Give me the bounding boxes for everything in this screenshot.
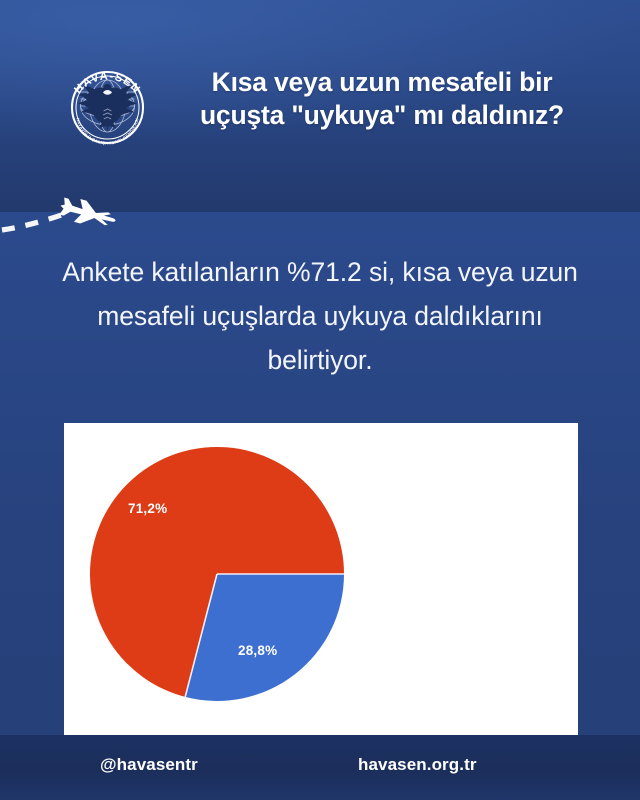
social-handle[interactable]: @havasentr — [100, 755, 198, 775]
airplane-decoration — [0, 178, 190, 240]
header: HAVA-SEN HAVAYOLU ÇALIŞANLARI SENDİKASI … — [0, 0, 640, 200]
footer: @havasentr havasen.org.tr — [0, 735, 640, 800]
summary-paragraph: Ankete katılanların %71.2 si, kısa veya … — [58, 250, 582, 382]
pie-value-label-kisa: 28,8% — [238, 643, 277, 658]
hava-sen-eagle-logo: HAVA-SEN HAVAYOLU ÇALIŞANLARI SENDİKASI — [59, 59, 156, 156]
page-title: Kısa veya uzun mesafeli bir uçuşta "uyku… — [176, 66, 588, 132]
pie-value-label-uzun: 71,2% — [128, 501, 167, 516]
website-url[interactable]: havasen.org.tr — [358, 755, 477, 775]
pie-chart — [82, 437, 352, 717]
poster-root: HAVA-SEN HAVAYOLU ÇALIŞANLARI SENDİKASI … — [0, 0, 640, 800]
chart-panel: kısa mesafeli uçuş uzun mesafeli uçuş — [64, 423, 578, 735]
airplane-icon — [57, 194, 118, 232]
dashed-trail-icon — [2, 212, 70, 230]
